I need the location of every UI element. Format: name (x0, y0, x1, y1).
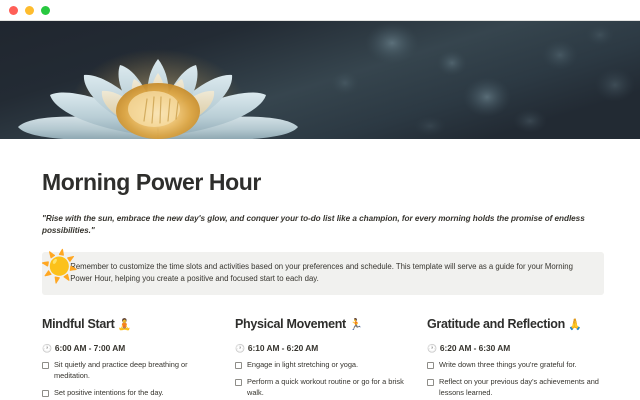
column-mindful-start: Mindful Start 🧘 🕐 6:00 AM - 7:00 AM Sit … (42, 317, 235, 400)
todo-item[interactable]: Write down three things you're grateful … (427, 360, 624, 371)
time-slot-text: 6:00 AM - 7:00 AM (55, 343, 125, 353)
traffic-light-group (9, 6, 50, 15)
todo-item[interactable]: Engage in light stretching or yoga. (235, 360, 427, 371)
column-list: Mindful Start 🧘 🕐 6:00 AM - 7:00 AM Sit … (42, 317, 604, 400)
time-slot-text: 6:10 AM - 6:20 AM (248, 343, 318, 353)
close-button[interactable] (9, 6, 18, 15)
time-slot[interactable]: 🕐 6:20 AM - 6:30 AM (427, 343, 624, 353)
column-heading[interactable]: Physical Movement 🏃 (235, 317, 427, 331)
todo-label: Sit quietly and practice deep breathing … (54, 360, 214, 382)
clock-icon: 🕐 (235, 344, 245, 353)
checkbox[interactable] (427, 362, 434, 369)
todo-label: Reflect on your previous day's achieveme… (439, 377, 609, 399)
todo-label: Engage in light stretching or yoga. (247, 360, 358, 371)
time-slot-text: 6:20 AM - 6:30 AM (440, 343, 510, 353)
callout-text: Remember to customize the time slots and… (70, 261, 593, 285)
todo-item[interactable]: Reflect on your previous day's achieveme… (427, 377, 624, 399)
todo-label: Perform a quick workout routine or go fo… (247, 377, 405, 399)
page-content: Morning Power Hour "Rise with the sun, e… (0, 139, 640, 400)
column-physical-movement: Physical Movement 🏃 🕐 6:10 AM - 6:20 AM … (235, 317, 427, 400)
column-heading-text: Mindful Start (42, 317, 114, 331)
checkbox[interactable] (42, 362, 49, 369)
todo-item[interactable]: Perform a quick workout routine or go fo… (235, 377, 427, 399)
window-titlebar (0, 0, 640, 21)
time-slot[interactable]: 🕐 6:00 AM - 7:00 AM (42, 343, 235, 353)
page-quote[interactable]: "Rise with the sun, embrace the new day'… (42, 213, 604, 236)
checkbox[interactable] (42, 390, 49, 397)
todo-label: Set positive intentions for the day. (54, 388, 164, 399)
todo-item[interactable]: Sit quietly and practice deep breathing … (42, 360, 235, 382)
callout-block[interactable]: 💡 Remember to customize the time slots a… (42, 252, 604, 295)
folded-hands-icon: 🙏 (568, 319, 581, 331)
todo-item[interactable]: Set positive intentions for the day. (42, 388, 235, 399)
water-lily-illustration (0, 21, 640, 139)
checkbox[interactable] (427, 379, 434, 386)
column-heading[interactable]: Gratitude and Reflection 🙏 (427, 317, 624, 331)
todo-label: Write down three things you're grateful … (439, 360, 577, 371)
column-gratitude-reflection: Gratitude and Reflection 🙏 🕐 6:20 AM - 6… (427, 317, 624, 400)
column-heading[interactable]: Mindful Start 🧘 (42, 317, 235, 331)
checkbox[interactable] (235, 379, 242, 386)
clock-icon: 🕐 (427, 344, 437, 353)
column-heading-text: Gratitude and Reflection (427, 317, 565, 331)
sun-icon[interactable]: ☀️ (40, 251, 79, 282)
person-meditating-icon: 🧘 (118, 319, 131, 331)
checkbox[interactable] (235, 362, 242, 369)
time-slot[interactable]: 🕐 6:10 AM - 6:20 AM (235, 343, 427, 353)
clock-icon: 🕐 (42, 344, 52, 353)
column-heading-text: Physical Movement (235, 317, 346, 331)
person-running-icon: 🏃 (349, 319, 362, 331)
cover-image[interactable] (0, 21, 640, 139)
minimize-button[interactable] (25, 6, 34, 15)
page-body: ☀️ Morning Power Hour "Rise with the sun… (0, 139, 640, 400)
page-title[interactable]: Morning Power Hour (42, 170, 604, 195)
app-window: ☀️ Morning Power Hour "Rise with the sun… (0, 0, 640, 400)
zoom-button[interactable] (41, 6, 50, 15)
